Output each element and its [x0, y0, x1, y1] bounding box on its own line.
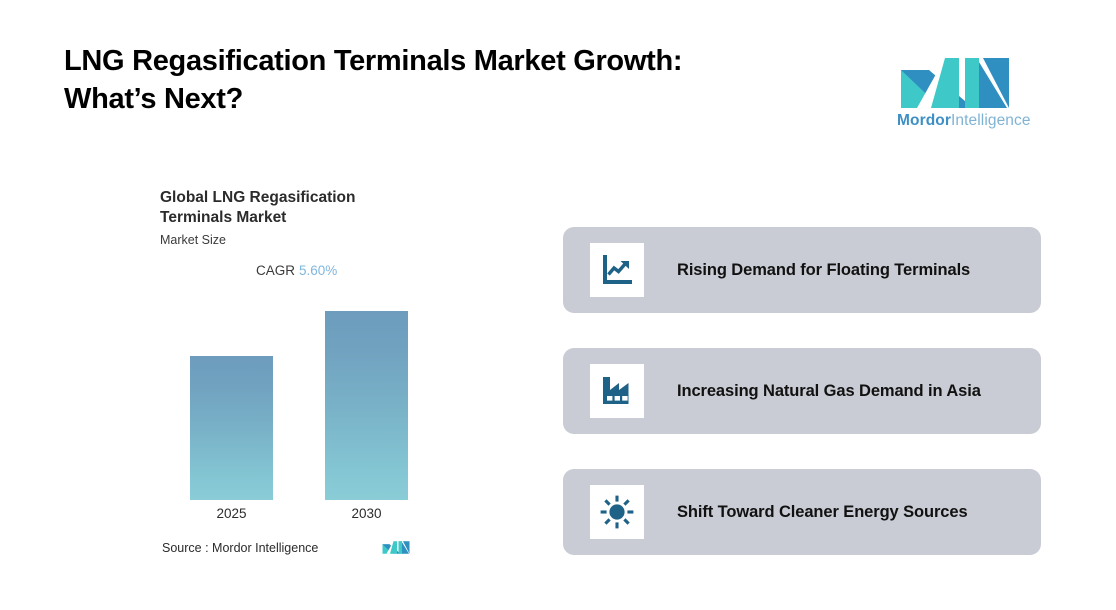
bar-2025 — [190, 356, 273, 500]
feature-card-label: Increasing Natural Gas Demand in Asia — [677, 382, 981, 401]
chart-title: Global LNG Regasification Terminals Mark… — [160, 188, 430, 228]
feature-card-list: Rising Demand for Floating Terminals Inc… — [563, 227, 1041, 555]
feature-card-cleaner-energy[interactable]: Shift Toward Cleaner Energy Sources — [563, 469, 1041, 555]
x-axis-label-2025: 2025 — [190, 506, 273, 521]
growth-chart-icon-frame — [590, 243, 644, 297]
feature-card-natural-gas-asia[interactable]: Increasing Natural Gas Demand in Asia — [563, 348, 1041, 434]
x-axis-label-2030: 2030 — [325, 506, 408, 521]
bar-rect-2030 — [325, 311, 408, 500]
feature-card-floating-terminals[interactable]: Rising Demand for Floating Terminals — [563, 227, 1041, 313]
brand-name-light: Intelligence — [951, 112, 1031, 129]
cagr-label: CAGR — [256, 263, 295, 278]
mordor-m-mark-icon — [899, 50, 1011, 108]
growth-chart-icon — [599, 252, 635, 288]
chart-source-text: Source : Mordor Intelligence — [162, 541, 318, 555]
bar-2030 — [325, 311, 408, 500]
feature-card-label: Rising Demand for Floating Terminals — [677, 261, 970, 280]
chart-panel: Global LNG Regasification Terminals Mark… — [160, 188, 460, 560]
bar-rect-2025 — [190, 356, 273, 500]
mordor-m-mark-icon-small — [382, 538, 410, 555]
brand-name-bold: Mordor — [897, 112, 951, 129]
chart-subtitle: Market Size — [160, 233, 460, 247]
source-name: Mordor Intelligence — [212, 541, 318, 555]
feature-card-label: Shift Toward Cleaner Energy Sources — [677, 503, 968, 522]
source-label: Source : — [162, 541, 209, 555]
factory-icon-frame — [590, 364, 644, 418]
chart-plot-area: 2025 2030 — [160, 310, 460, 500]
sun-icon-frame — [590, 485, 644, 539]
sun-icon — [599, 494, 635, 530]
chart-source-row: Source : Mordor Intelligence — [162, 538, 462, 562]
brand-logo: MordorIntelligence — [897, 50, 1012, 140]
cagr-annotation: CAGR5.60% — [256, 263, 460, 278]
page-title: LNG Regasification Terminals Market Grow… — [64, 42, 824, 119]
factory-icon — [599, 373, 635, 409]
cagr-value: 5.60% — [299, 263, 337, 278]
brand-wordmark: MordorIntelligence — [897, 112, 1012, 130]
